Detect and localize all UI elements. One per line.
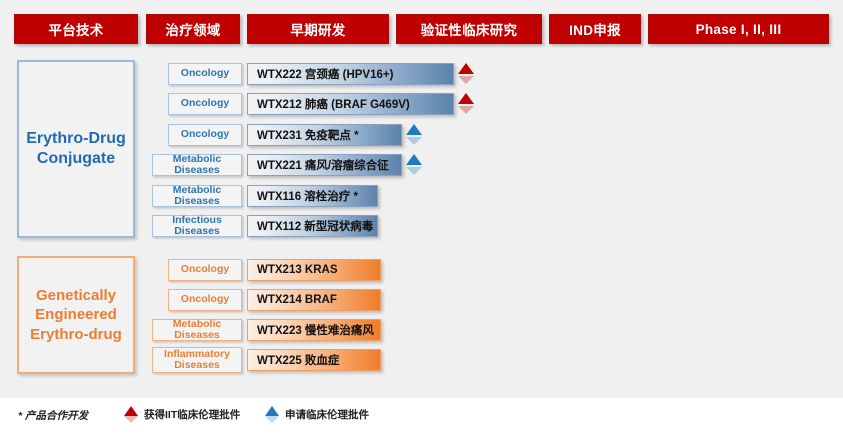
column-header-phases: Phase I, II, III bbox=[648, 14, 829, 44]
indication-label: Oncology bbox=[168, 124, 242, 146]
indication-label: Oncology bbox=[168, 93, 242, 115]
legend: * 产品合作开发 获得IIT临床伦理批件 申请临床伦理批件 bbox=[0, 400, 843, 434]
indication-label: Oncology bbox=[168, 63, 242, 85]
indication-label: Oncology bbox=[168, 289, 242, 311]
pipeline-chart: 平台技术 治疗领域 早期研发 验证性临床研究 IND申报 Phase I, II… bbox=[0, 0, 843, 434]
milestone-red-triangle-icon bbox=[458, 93, 474, 115]
platform-box-erythro-drug-conjugate: Erythro-Drug Conjugate bbox=[17, 60, 135, 238]
platform-box-genetically-engineered-erythro-drug: Genetically Engineered Erythro-drug bbox=[17, 256, 135, 374]
platform-label: Genetically Engineered Erythro-drug bbox=[19, 286, 133, 345]
indication-label: Infectious Diseases bbox=[152, 215, 242, 237]
indication-label: Metabolic Diseases bbox=[152, 319, 242, 341]
legend-label: 获得IIT临床伦理批件 bbox=[144, 407, 240, 422]
indication-label: Metabolic Diseases bbox=[152, 185, 242, 207]
program-bar[interactable]: WTX214 BRAF bbox=[247, 289, 381, 311]
blue-triangle-icon bbox=[265, 405, 279, 423]
program-bar[interactable]: WTX225 败血症 bbox=[247, 349, 381, 371]
program-bar[interactable]: WTX116 溶栓治疗 * bbox=[247, 185, 378, 207]
legend-item-clinical-application: 申请临床伦理批件 bbox=[265, 405, 369, 423]
column-header-discovery: 早期研发 bbox=[247, 14, 389, 44]
legend-label: * 产品合作开发 bbox=[18, 408, 88, 423]
program-bar[interactable]: WTX112 新型冠状病毒 bbox=[247, 215, 378, 237]
platform-label: Erythro-Drug Conjugate bbox=[19, 129, 133, 170]
legend-item-iit-approval: 获得IIT临床伦理批件 bbox=[124, 405, 240, 423]
program-bar[interactable]: WTX212 肺癌 (BRAF G469V) bbox=[247, 93, 454, 115]
column-header-ind-filing: IND申报 bbox=[549, 14, 641, 44]
column-header-platform: 平台技术 bbox=[14, 14, 138, 44]
column-header-indication: 治疗领域 bbox=[146, 14, 240, 44]
milestone-red-triangle-icon bbox=[458, 63, 474, 85]
program-bar[interactable]: WTX223 慢性难治痛风 bbox=[247, 319, 381, 341]
legend-item-asterisk: * 产品合作开发 bbox=[18, 408, 88, 423]
red-triangle-icon bbox=[124, 405, 138, 423]
indication-label: Oncology bbox=[168, 259, 242, 281]
program-bar[interactable]: WTX221 痛风/溶瘤综合征 bbox=[247, 154, 402, 176]
indication-label: Metabolic Diseases bbox=[152, 154, 242, 176]
program-bar[interactable]: WTX231 免疫靶点 * bbox=[247, 124, 402, 146]
milestone-blue-triangle-icon bbox=[406, 154, 422, 176]
column-header-clinical: 验证性临床研究 bbox=[396, 14, 542, 44]
milestone-blue-triangle-icon bbox=[406, 124, 422, 146]
legend-label: 申请临床伦理批件 bbox=[285, 407, 369, 422]
program-bar[interactable]: WTX213 KRAS bbox=[247, 259, 381, 281]
indication-label: Inflammatory Diseases bbox=[152, 347, 242, 373]
program-bar[interactable]: WTX222 宫颈癌 (HPV16+) bbox=[247, 63, 454, 85]
